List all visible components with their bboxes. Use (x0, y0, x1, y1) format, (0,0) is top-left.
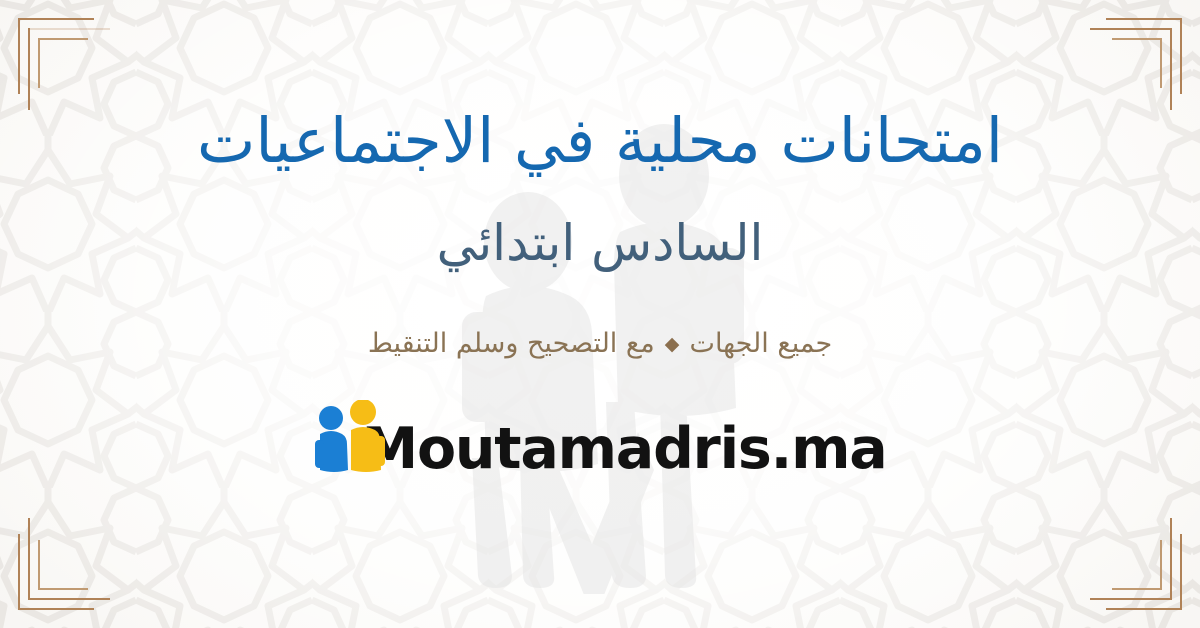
brand-name: Moutamadris.ma (361, 421, 886, 478)
tagline-left-text: مع التصحيح وسلم التنقيط (368, 328, 655, 359)
diamond-bullet-icon: ◆ (655, 333, 690, 356)
page-subtitle-level: السادس ابتدائي (437, 217, 764, 270)
tagline-right-text: جميع الجهات (690, 328, 833, 359)
tagline: جميع الجهات◆مع التصحيح وسلم التنقيط (368, 328, 832, 360)
brand-lockup[interactable]: Moutamadris.ma (313, 400, 886, 478)
poster-content: امتحانات محلية في الاجتماعيات السادس ابت… (0, 0, 1200, 628)
poster-canvas: امتحانات محلية في الاجتماعيات السادس ابت… (0, 0, 1200, 628)
page-title: امتحانات محلية في الاجتماعيات (197, 108, 1003, 173)
two-students-logo-icon (313, 400, 387, 476)
